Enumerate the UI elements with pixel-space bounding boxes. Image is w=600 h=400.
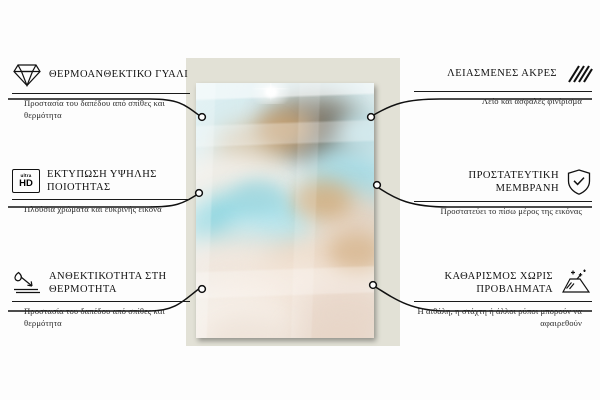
divider	[12, 199, 190, 200]
infographic-canvas: ΘΕΡΜΟΑΝΘΕΚΤΙΚΟ ΓΥΑΛΙ Προστασία του δαπέδ…	[0, 0, 600, 400]
divider	[12, 301, 190, 302]
feature-polished-edges: ΛΕΙΑΣΜΕΝΕΣ ΑΚΡΕΣ Λείο και ασφαλές φινίρι…	[414, 62, 592, 108]
diamond-icon	[12, 62, 42, 88]
feature-title: ΑΝΘΕΚΤΙΚΟΤΗΤΑ ΣΤΗ ΘΕΡΜΟΤΗΤΑ	[49, 270, 190, 296]
feature-subtitle: Λείο και ασφαλές φινίρισμα	[414, 96, 592, 108]
feature-title: ΚΑΘΑΡΙΣΜΟΣ ΧΩΡΙΣ ΠΡΟΒΛΗΜΑΤΑ	[414, 270, 553, 296]
feature-heat-resistance: ΑΝΘΕΚΤΙΚΟΤΗΤΑ ΣΤΗ ΘΕΡΜΟΤΗΤΑ Προστασία το…	[12, 270, 190, 329]
easy-cleaning-icon	[560, 270, 592, 296]
ultra-hd-icon: ultra HD	[12, 169, 40, 193]
feature-title: ΘΕΡΜΟΑΝΘΕΚΤΙΚΟ ΓΥΑΛΙ	[49, 68, 188, 81]
divider	[414, 301, 592, 302]
polished-edges-icon	[564, 62, 592, 86]
divider	[414, 91, 592, 92]
feature-subtitle: Προστασία του δαπέδου από σπίθες και θερ…	[12, 306, 190, 329]
feature-easy-cleaning: ΚΑΘΑΡΙΣΜΟΣ ΧΩΡΙΣ ΠΡΟΒΛΗΜΑΤΑ Η αιθάλη, η …	[414, 270, 592, 329]
divider	[12, 93, 190, 94]
product-glass-print	[196, 83, 374, 338]
feature-subtitle: Προστασία του δαπέδου από σπίθες και θερ…	[12, 98, 190, 121]
feature-subtitle: Πλούσια χρώματα και ευκρινής εικόνα	[12, 204, 190, 216]
feature-protective-film: ΠΡΟΣΤΑΤΕΥΤΙΚΗ ΜΕΜΒΡΑΝΗ Προστατεύει το πί…	[414, 168, 592, 218]
feature-title: ΛΕΙΑΣΜΕΝΕΣ ΑΚΡΕΣ	[447, 67, 557, 80]
feature-title: ΠΡΟΣΤΑΤΕΥΤΙΚΗ ΜΕΜΒΡΑΝΗ	[414, 169, 559, 195]
feature-subtitle: Η αιθάλη, η στάχτη ή άλλοι ρύποι μπορούν…	[414, 306, 592, 329]
feature-high-quality-print: ultra HD ΕΚΤΥΠΩΣΗ ΥΨΗΛΗΣ ΠΟΙΟΤΗΤΑΣ Πλούσ…	[12, 168, 190, 216]
feature-title: ΕΚΤΥΠΩΣΗ ΥΨΗΛΗΣ ΠΟΙΟΤΗΤΑΣ	[47, 168, 190, 194]
shield-check-icon	[566, 168, 592, 196]
artwork-abstract-marble	[196, 83, 374, 338]
feature-heat-resistant-glass: ΘΕΡΜΟΑΝΘΕΚΤΙΚΟ ΓΥΑΛΙ Προστασία του δαπέδ…	[12, 62, 190, 121]
feature-subtitle: Προστατεύει το πίσω μέρος της εικόνας	[414, 206, 592, 218]
hd-label: HD	[19, 179, 33, 189]
heat-resistance-icon	[12, 270, 42, 296]
divider	[414, 201, 592, 202]
